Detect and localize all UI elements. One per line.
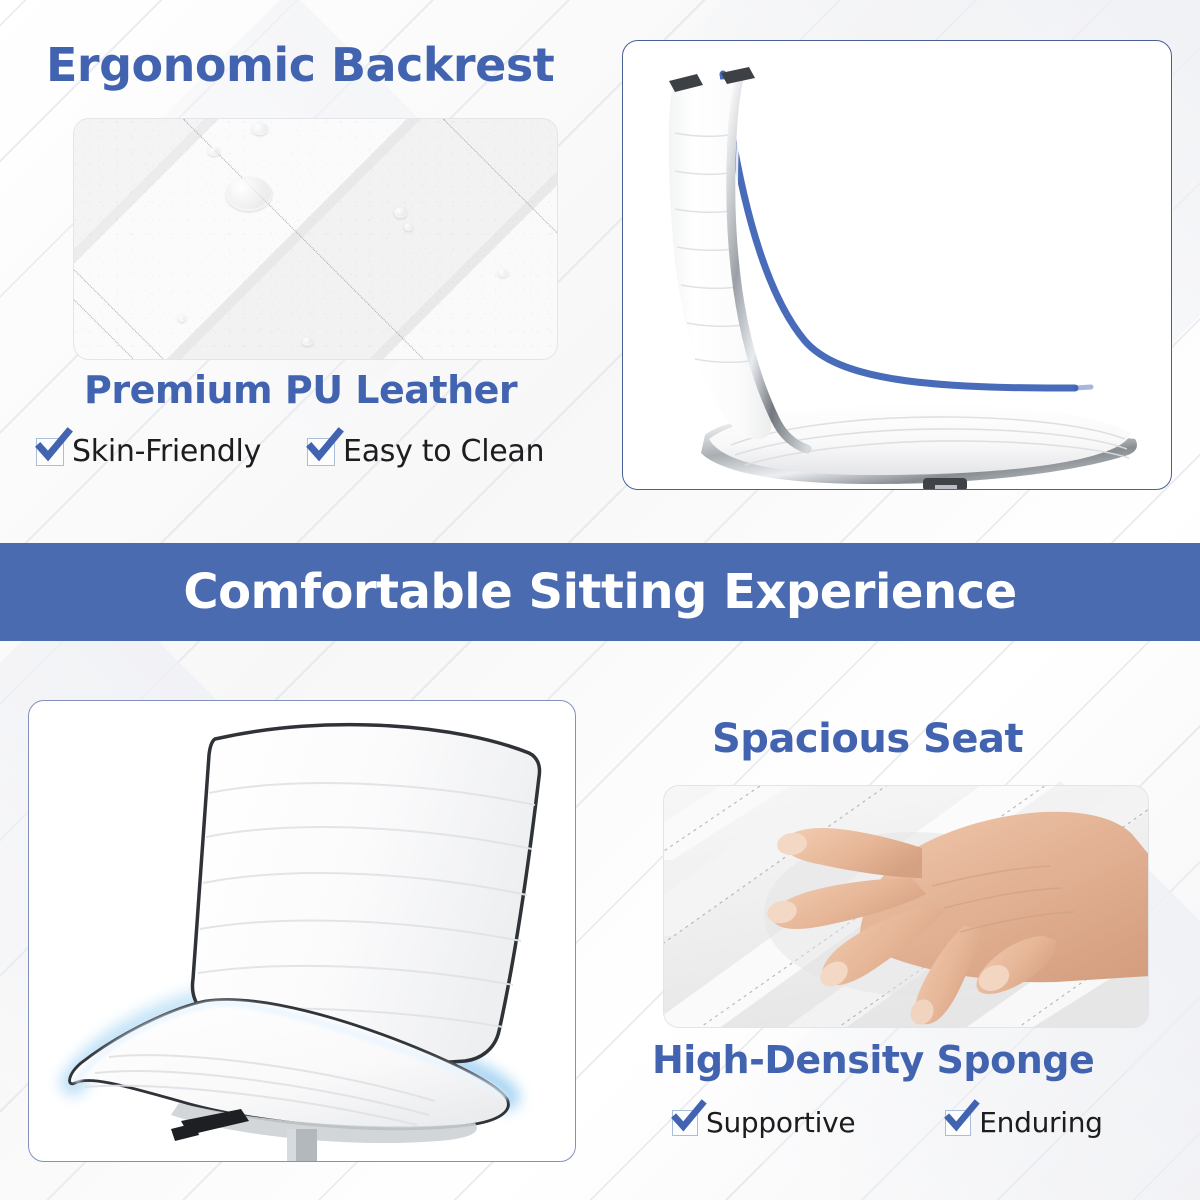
image-chair-side-profile	[622, 40, 1172, 490]
banner-comfortable-sitting: Comfortable Sitting Experience	[0, 543, 1200, 641]
water-droplet	[178, 315, 186, 322]
water-droplet	[252, 123, 268, 135]
checkbox-checked-icon[interactable]	[36, 438, 64, 466]
water-droplet	[394, 207, 407, 218]
feature-list-pu-leather: Skin-Friendly Easy to Clean	[36, 434, 544, 469]
water-droplet	[498, 269, 508, 277]
checkbox-checked-icon[interactable]	[307, 438, 335, 466]
feature-list-sponge: Supportive Enduring	[672, 1106, 1103, 1139]
water-droplet	[404, 223, 413, 231]
feature-label: Supportive	[706, 1106, 855, 1139]
water-droplet	[226, 177, 272, 211]
infographic-page: Ergonomic Backrest Premium PU Leather Sk…	[0, 0, 1200, 1200]
feature-label: Skin-Friendly	[72, 434, 261, 469]
banner-title: Comfortable Sitting Experience	[183, 564, 1016, 620]
heading-ergonomic-backrest: Ergonomic Backrest	[46, 38, 554, 92]
checkbox-checked-icon[interactable]	[672, 1110, 698, 1136]
ergonomic-curve-line	[723, 74, 1075, 388]
feature-label: Easy to Clean	[343, 434, 544, 469]
checkbox-checked-icon[interactable]	[945, 1110, 971, 1136]
feature-item-supportive[interactable]: Supportive	[672, 1106, 855, 1139]
image-hand-on-seat-cushion	[663, 785, 1149, 1028]
image-pu-leather-texture	[73, 118, 558, 360]
feature-item-skin-friendly[interactable]: Skin-Friendly	[36, 434, 261, 469]
feature-item-enduring[interactable]: Enduring	[945, 1106, 1102, 1139]
water-droplet	[208, 147, 220, 156]
heading-spacious-seat: Spacious Seat	[712, 716, 1023, 762]
leather-grain-overlay	[74, 119, 557, 359]
heading-high-density-sponge: High-Density Sponge	[652, 1038, 1094, 1082]
feature-item-easy-to-clean[interactable]: Easy to Clean	[307, 434, 544, 469]
water-droplet	[302, 337, 313, 346]
feature-label: Enduring	[979, 1106, 1102, 1139]
backrest-top-cap	[721, 67, 755, 84]
heading-premium-pu-leather: Premium PU Leather	[84, 368, 517, 412]
image-chair-three-quarter-view	[28, 700, 576, 1162]
